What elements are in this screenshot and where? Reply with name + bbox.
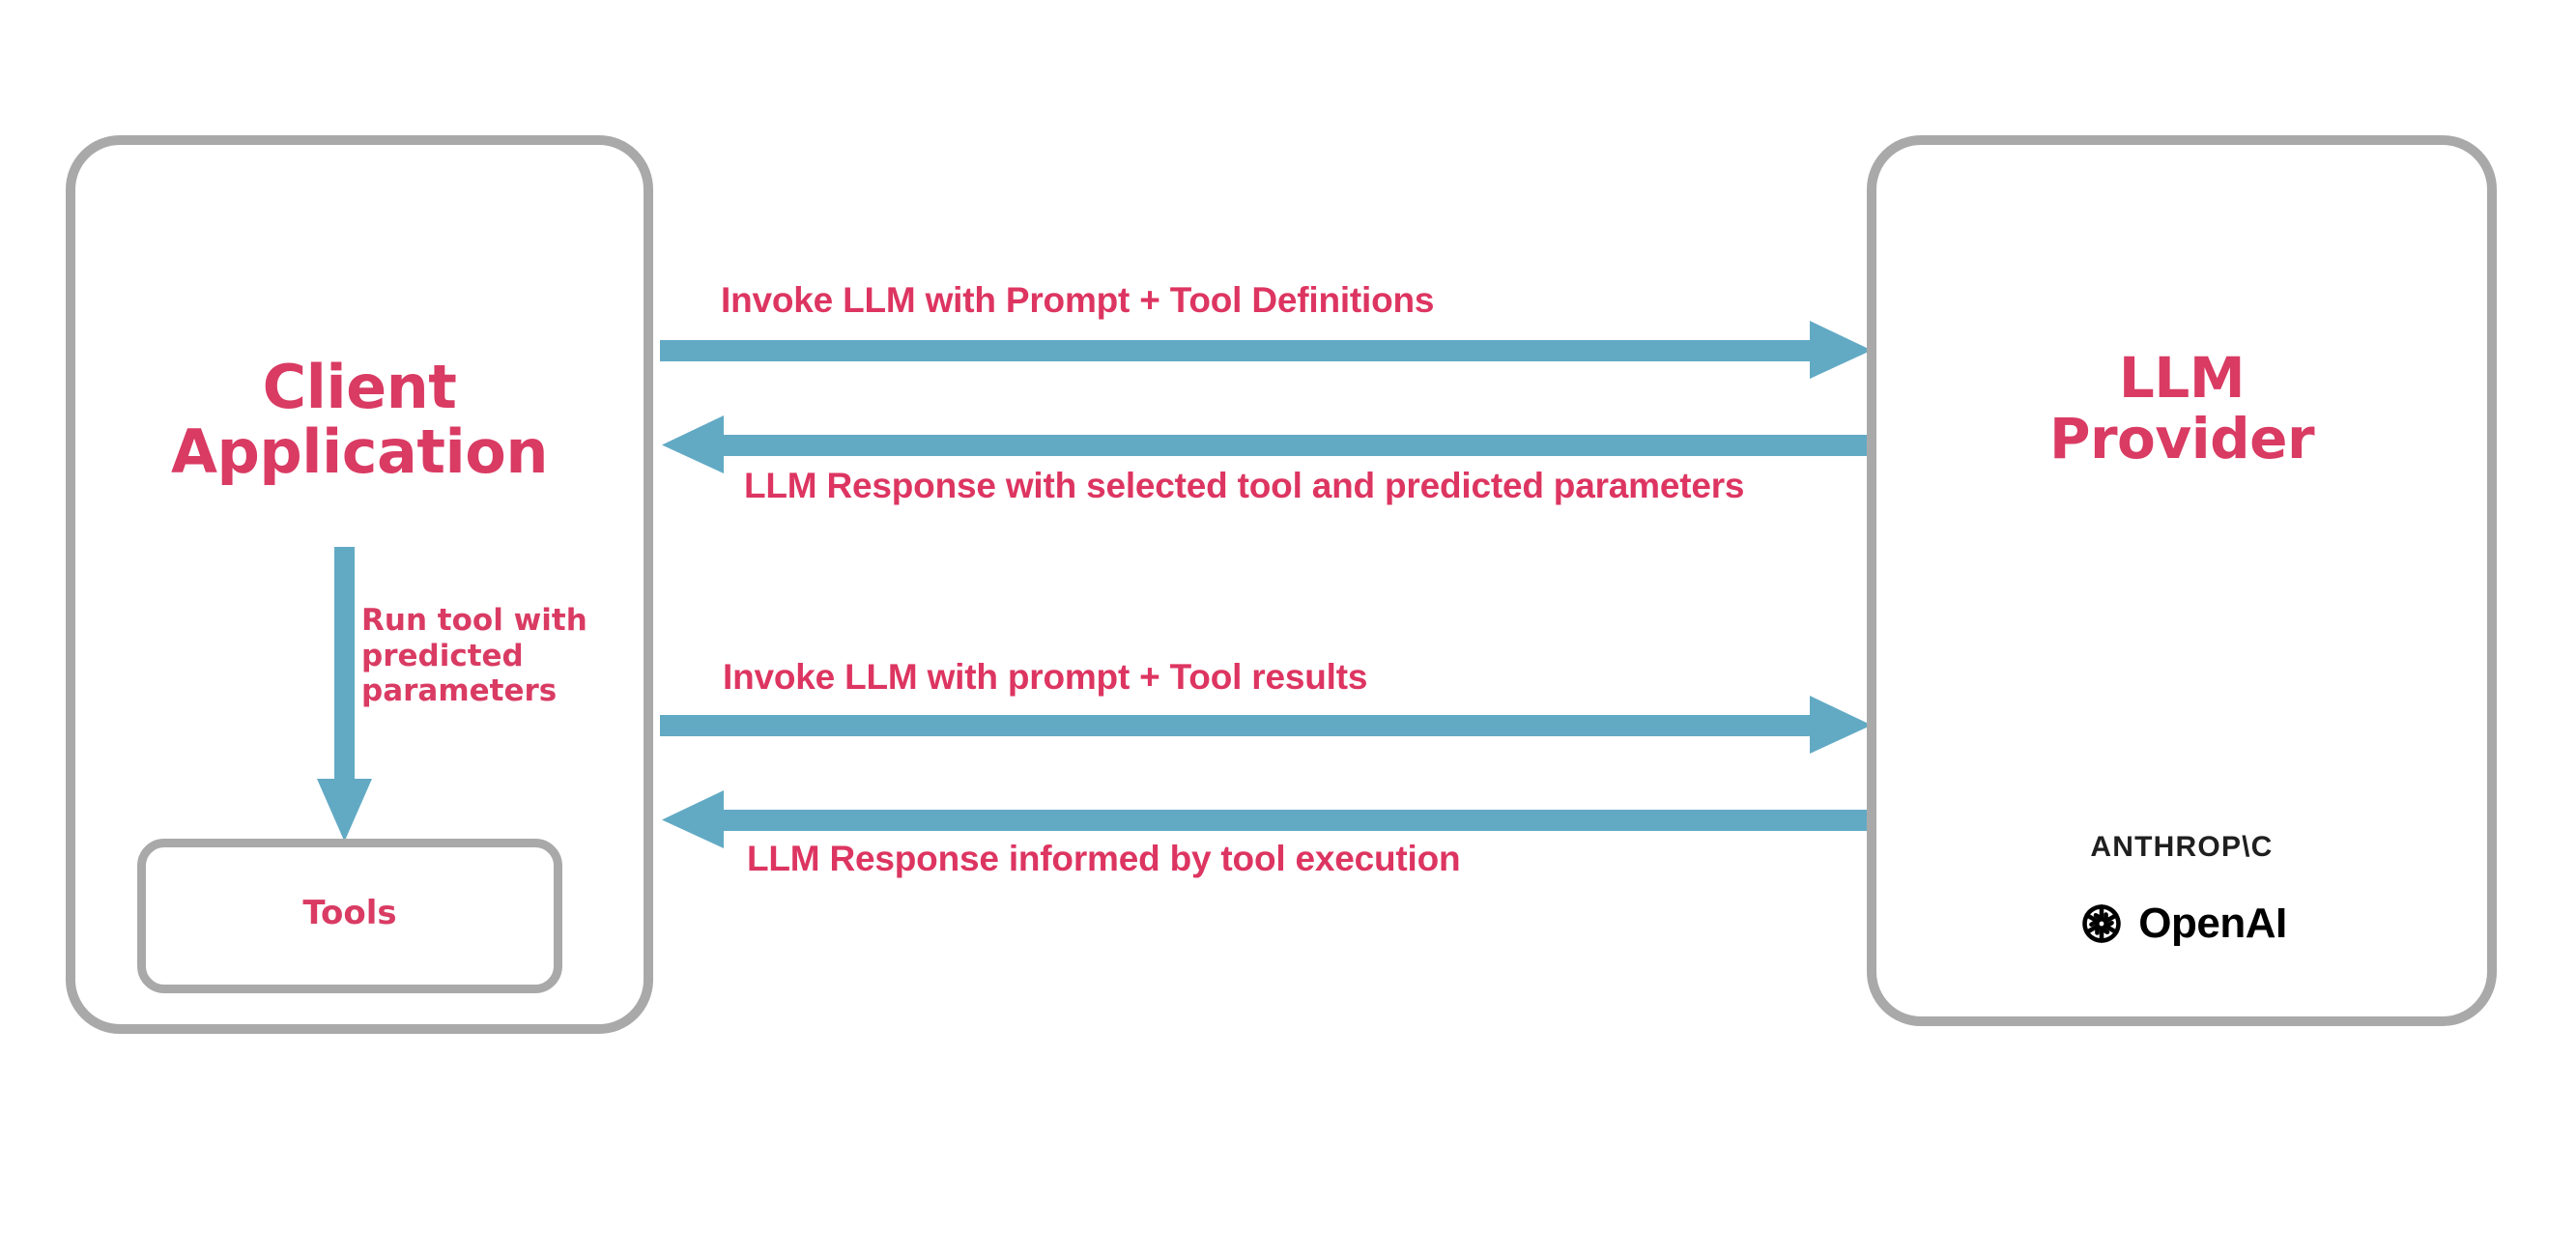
openai-rosette-icon xyxy=(2076,899,2127,949)
llm-provider-box xyxy=(1867,135,2497,1026)
tools-label: Tools xyxy=(137,894,562,932)
flow-arrow-invoke-1 xyxy=(660,319,1874,381)
flow-label-response-1: LLM Response with selected tool and pred… xyxy=(744,466,1744,506)
run-tool-arrow-label: Run tool with predicted parameters xyxy=(361,603,622,709)
flow-label-invoke-1: Invoke LLM with Prompt + Tool Definition… xyxy=(721,280,1434,321)
client-application-title: Client Application xyxy=(66,356,653,485)
flow-arrow-invoke-2 xyxy=(660,694,1874,756)
run-tool-label-line-3: parameters xyxy=(361,673,622,709)
client-title-line-1: Client xyxy=(66,356,653,420)
client-title-line-2: Application xyxy=(66,420,653,485)
diagram-canvas: Client Application Run tool with predict… xyxy=(0,0,2576,1258)
anthropic-logo: ANTHROP\C xyxy=(1867,831,2497,864)
llm-provider-title: LLM Provider xyxy=(1867,348,2497,469)
provider-title-line-2: Provider xyxy=(1867,409,2497,470)
provider-title-line-1: LLM xyxy=(1867,348,2497,409)
openai-logo: OpenAI xyxy=(1867,899,2497,949)
run-tool-label-line-1: Run tool with xyxy=(361,603,622,639)
run-tool-label-line-2: predicted xyxy=(361,639,622,674)
flow-label-invoke-2: Invoke LLM with prompt + Tool results xyxy=(723,657,1367,698)
flow-label-response-2: LLM Response informed by tool execution xyxy=(747,839,1460,879)
openai-wordmark: OpenAI xyxy=(2138,902,2286,945)
